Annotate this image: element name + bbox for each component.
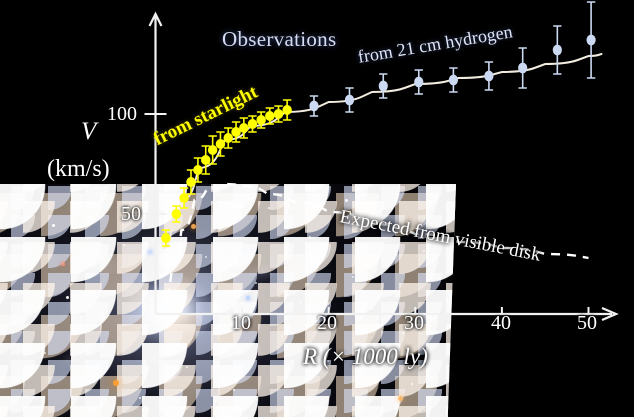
data-point xyxy=(414,77,423,88)
x-tick-label-10: 10 xyxy=(231,313,251,333)
data-point xyxy=(309,101,318,112)
data-point xyxy=(161,233,171,243)
data-point xyxy=(256,115,266,125)
data-point xyxy=(172,209,182,219)
data-point xyxy=(345,95,354,106)
data-point xyxy=(274,109,284,119)
data-point xyxy=(223,133,233,143)
y-tick-label-100: 100 xyxy=(107,104,137,124)
y-axis-title-symbol: V xyxy=(81,118,96,146)
data-point xyxy=(216,139,226,149)
data-point xyxy=(265,111,275,121)
data-point xyxy=(518,63,527,74)
data-point xyxy=(248,119,258,129)
x-tick-label-50: 50 xyxy=(577,313,597,333)
series-hydrogen xyxy=(309,2,595,116)
y-tick-label-50: 50 xyxy=(121,204,141,224)
y-axis-title-units: (km/s) xyxy=(47,156,110,183)
x-axis-title: R (× 1000 ly) xyxy=(303,344,428,370)
x-tick-label-40: 40 xyxy=(491,313,511,333)
data-point xyxy=(239,123,249,133)
data-point xyxy=(587,35,596,46)
data-point xyxy=(208,145,218,155)
data-point xyxy=(282,105,292,115)
data-point xyxy=(193,165,203,175)
expected-visible-disk-curve xyxy=(164,184,588,296)
annotation-observations: Observations xyxy=(222,27,336,52)
galaxy-rotation-curve-figure: 10 20 30 40 50 50 100 V (km/s) R (× 1000… xyxy=(0,0,634,417)
data-point xyxy=(379,81,388,92)
x-tick-label-20: 20 xyxy=(317,313,337,333)
data-point xyxy=(449,75,458,86)
x-tick-label-30: 30 xyxy=(404,313,424,333)
data-point xyxy=(553,45,562,56)
data-point xyxy=(484,71,493,82)
